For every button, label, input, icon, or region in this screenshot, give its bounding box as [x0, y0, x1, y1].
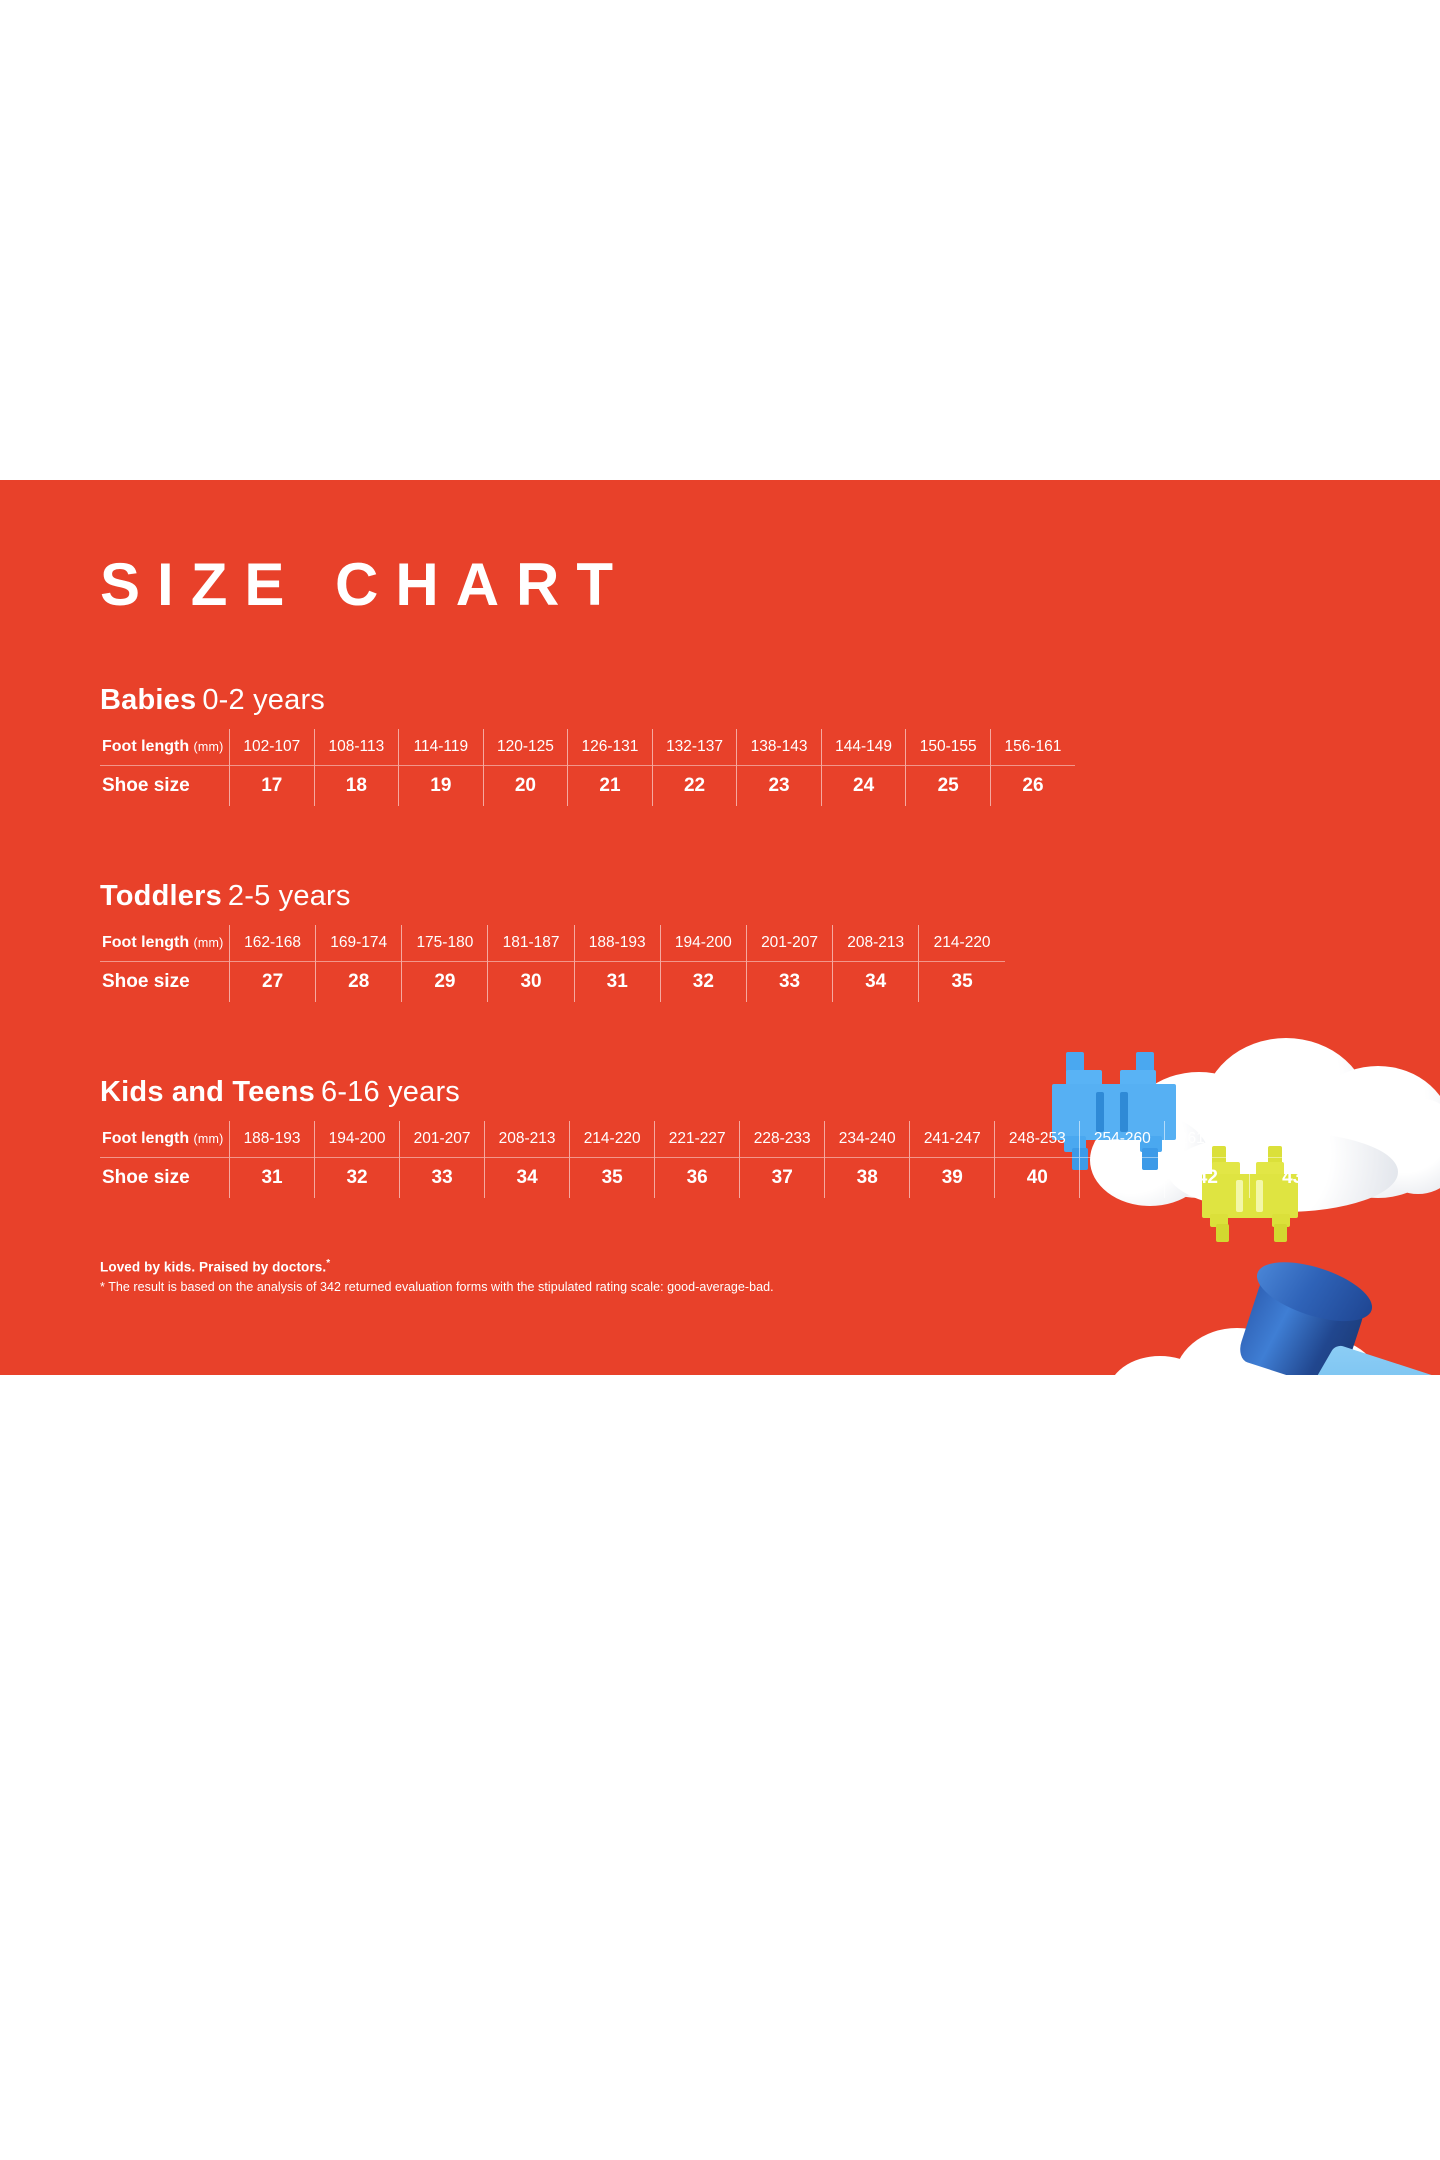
size-table-babies: Foot length (mm) 102-107 108-113 114-119… [100, 729, 1075, 806]
section-babies: Babies0-2 years Foot length (mm) 102-107… [100, 686, 1075, 806]
cell-shoe-size: 35 [570, 1158, 655, 1199]
section-kids-and-teens: Kids and Teens6-16 years Foot length (mm… [100, 1078, 1335, 1198]
cell-foot-length: 261-267 [1165, 1121, 1250, 1158]
cell-foot-length: 248-253 [995, 1121, 1080, 1158]
slogan-asterisk: * [326, 1258, 330, 1269]
cell-shoe-size: 40 [995, 1158, 1080, 1199]
cell-foot-length: 221-227 [655, 1121, 740, 1158]
section-heading-toddlers: Toddlers2-5 years [100, 882, 1005, 911]
cell-shoe-size: 20 [483, 766, 568, 807]
row-label-foot-length: Foot length (mm) [100, 925, 230, 962]
footnote-block: Loved by kids. Praised by doctors.* * Th… [100, 1258, 774, 1294]
cell-foot-length: 169-174 [316, 925, 402, 962]
cell-foot-length: 162-168 [230, 925, 316, 962]
cell-foot-length: 234-240 [825, 1121, 910, 1158]
section-age-label: 0-2 years [202, 684, 325, 716]
section-age-label: 2-5 years [228, 880, 351, 912]
cell-foot-length: 188-193 [574, 925, 660, 962]
cell-foot-length: 214-220 [570, 1121, 655, 1158]
cell-shoe-size: 24 [821, 766, 906, 807]
cell-shoe-size: 18 [314, 766, 399, 807]
section-heading-babies: Babies0-2 years [100, 686, 1075, 715]
cell-shoe-size: 33 [400, 1158, 485, 1199]
section-group-label: Babies [100, 684, 196, 716]
unit-text: (mm) [194, 740, 224, 754]
cell-shoe-size: 43 [1250, 1158, 1335, 1199]
cell-shoe-size: 38 [825, 1158, 910, 1199]
cell-shoe-size: 36 [655, 1158, 740, 1199]
blue-cube-illustration [1178, 1250, 1440, 1375]
table-row-shoe-size: Shoe size 31 32 33 34 35 36 37 38 39 40 … [100, 1158, 1335, 1199]
cell-shoe-size: 35 [919, 962, 1005, 1003]
foot-length-text: Foot length [102, 1130, 189, 1147]
cell-foot-length: 156-161 [990, 729, 1075, 766]
row-label-foot-length: Foot length (mm) [100, 1121, 230, 1158]
unit-text: (mm) [194, 936, 224, 950]
cell-foot-length: 214-220 [919, 925, 1005, 962]
cell-shoe-size: 37 [740, 1158, 825, 1199]
cell-shoe-size: 41 [1080, 1158, 1165, 1199]
table-row-foot-length: Foot length (mm) 188-193 194-200 201-207… [100, 1121, 1335, 1158]
cell-shoe-size: 42 [1165, 1158, 1250, 1199]
cell-shoe-size: 28 [316, 962, 402, 1003]
cell-shoe-size: 21 [568, 766, 653, 807]
blue-cylinder-icon [1221, 1243, 1386, 1375]
cell-foot-length: 114-119 [399, 729, 484, 766]
cell-shoe-size: 31 [574, 962, 660, 1003]
cell-shoe-size: 32 [660, 962, 746, 1003]
cell-foot-length: 208-213 [833, 925, 919, 962]
cell-shoe-size: 29 [402, 962, 488, 1003]
cell-shoe-size: 23 [737, 766, 822, 807]
cell-foot-length: 201-207 [746, 925, 832, 962]
section-heading-kids-and-teens: Kids and Teens6-16 years [100, 1078, 1335, 1107]
slogan-label: Loved by kids. Praised by doctors. [100, 1260, 326, 1275]
section-group-label: Kids and Teens [100, 1076, 315, 1108]
size-chart-page: SIZE CHART Babies0-2 years Foot length (… [0, 0, 1440, 2160]
cell-shoe-size: 25 [906, 766, 991, 807]
cloud-illustration-bottom [1078, 1310, 1440, 1375]
cell-foot-length: 126-131 [568, 729, 653, 766]
row-label-shoe-size: Shoe size [100, 766, 230, 807]
cell-foot-length: 194-200 [315, 1121, 400, 1158]
cell-shoe-size: 34 [485, 1158, 570, 1199]
cell-foot-length: 175-180 [402, 925, 488, 962]
cell-shoe-size: 30 [488, 962, 574, 1003]
cell-shoe-size: 17 [230, 766, 315, 807]
table-row-foot-length: Foot length (mm) 162-168 169-174 175-180… [100, 925, 1005, 962]
section-toddlers: Toddlers2-5 years Foot length (mm) 162-1… [100, 882, 1005, 1002]
cell-foot-length: 254-260 [1080, 1121, 1165, 1158]
cell-foot-length: 268-274 [1250, 1121, 1335, 1158]
row-label-shoe-size: Shoe size [100, 1158, 230, 1199]
cell-shoe-size: 27 [230, 962, 316, 1003]
cell-shoe-size: 33 [746, 962, 832, 1003]
cell-foot-length: 201-207 [400, 1121, 485, 1158]
cell-shoe-size: 22 [652, 766, 737, 807]
cell-shoe-size: 39 [910, 1158, 995, 1199]
cell-foot-length: 241-247 [910, 1121, 995, 1158]
table-row-shoe-size: Shoe size 17 18 19 20 21 22 23 24 25 26 [100, 766, 1075, 807]
cell-foot-length: 138-143 [737, 729, 822, 766]
cell-foot-length: 120-125 [483, 729, 568, 766]
section-group-label: Toddlers [100, 880, 222, 912]
slogan-text: Loved by kids. Praised by doctors.* [100, 1258, 774, 1275]
cell-shoe-size: 31 [230, 1158, 315, 1199]
cell-shoe-size: 19 [399, 766, 484, 807]
foot-length-text: Foot length [102, 934, 189, 951]
cell-foot-length: 150-155 [906, 729, 991, 766]
blue-cube-icon [1262, 1366, 1438, 1375]
table-row-shoe-size: Shoe size 27 28 29 30 31 32 33 34 35 [100, 962, 1005, 1003]
cell-foot-length: 181-187 [488, 925, 574, 962]
cell-foot-length: 208-213 [485, 1121, 570, 1158]
fineprint-text: * The result is based on the analysis of… [100, 1280, 774, 1294]
cell-shoe-size: 34 [833, 962, 919, 1003]
size-table-toddlers: Foot length (mm) 162-168 169-174 175-180… [100, 925, 1005, 1002]
cell-foot-length: 102-107 [230, 729, 315, 766]
cell-shoe-size: 26 [990, 766, 1075, 807]
foot-length-text: Foot length [102, 738, 189, 755]
unit-text: (mm) [194, 1132, 224, 1146]
cell-foot-length: 132-137 [652, 729, 737, 766]
table-row-foot-length: Foot length (mm) 102-107 108-113 114-119… [100, 729, 1075, 766]
row-label-shoe-size: Shoe size [100, 962, 230, 1003]
cell-foot-length: 194-200 [660, 925, 746, 962]
cell-foot-length: 144-149 [821, 729, 906, 766]
size-table-kids-and-teens: Foot length (mm) 188-193 194-200 201-207… [100, 1121, 1335, 1198]
cell-foot-length: 228-233 [740, 1121, 825, 1158]
cell-foot-length: 188-193 [230, 1121, 315, 1158]
page-title: SIZE CHART [100, 555, 630, 615]
row-label-foot-length: Foot length (mm) [100, 729, 230, 766]
section-age-label: 6-16 years [321, 1076, 460, 1108]
cell-foot-length: 108-113 [314, 729, 399, 766]
cell-shoe-size: 32 [315, 1158, 400, 1199]
